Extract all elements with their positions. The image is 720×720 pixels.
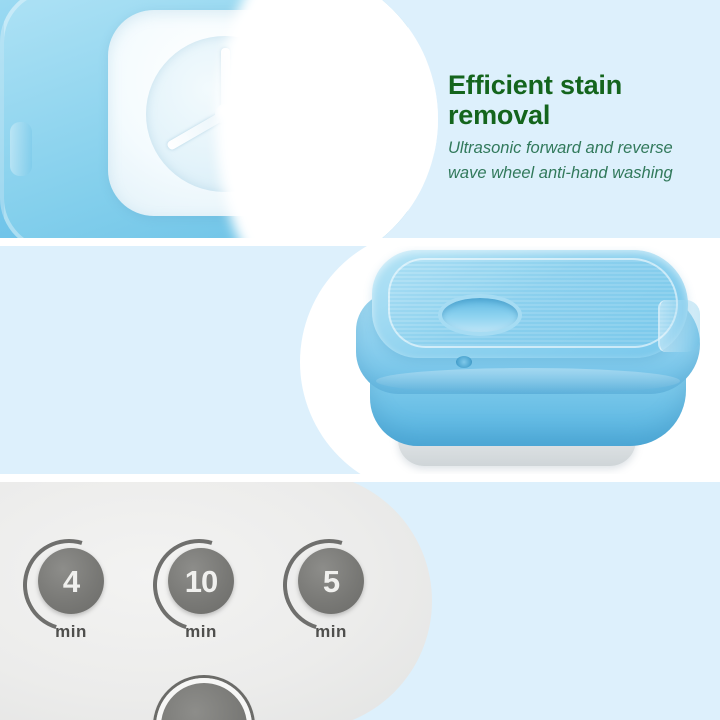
washer-top-view-photo bbox=[0, 0, 438, 238]
washer-side-clip bbox=[658, 300, 700, 352]
text-block-efficient-stain-removal: Efficient stain removal Ultrasonic forwa… bbox=[448, 70, 710, 185]
power-indicator-icon bbox=[456, 356, 472, 368]
bellows-fold-line bbox=[376, 368, 680, 394]
timer-value: 4 bbox=[63, 566, 79, 597]
timer-button-face[interactable]: 4 bbox=[38, 548, 104, 614]
body-efficient-stain-removal: Ultrasonic forward and reverse wave whee… bbox=[448, 136, 710, 185]
folded-washer-body bbox=[346, 248, 706, 474]
washer-side-nub bbox=[10, 122, 32, 176]
body-line: wave wheel anti-hand washing bbox=[448, 161, 710, 185]
timer-unit-label: min bbox=[168, 622, 234, 642]
folded-washer-photo bbox=[300, 246, 720, 474]
heading-efficient-stain-removal: Efficient stain removal bbox=[448, 70, 710, 130]
panel-timing: 4 min 10 min 5 min Timing bbox=[0, 482, 720, 720]
timer-value: 10 bbox=[185, 566, 217, 597]
washer-lid bbox=[372, 250, 688, 358]
timer-button-face[interactable]: 5 bbox=[298, 548, 364, 614]
photo-fade-mask bbox=[216, 0, 438, 238]
timer-unit-label: min bbox=[298, 622, 364, 642]
body-line: Ultrasonic forward and reverse bbox=[448, 136, 710, 160]
timer-button-face[interactable]: 10 bbox=[168, 548, 234, 614]
control-panel-photo: 4 min 10 min 5 min bbox=[0, 482, 432, 720]
panel-foldable: Foldable Travel, easy to put into the su… bbox=[0, 246, 720, 474]
washer-lid-texture bbox=[388, 258, 678, 348]
power-button[interactable] bbox=[156, 678, 252, 720]
timer-unit-label: min bbox=[38, 622, 104, 642]
panel-efficient-stain-removal: Efficient stain removal Ultrasonic forwa… bbox=[0, 0, 720, 238]
timer-value: 5 bbox=[323, 566, 339, 597]
product-infographic: Efficient stain removal Ultrasonic forwa… bbox=[0, 0, 720, 720]
lid-handle-hole bbox=[438, 294, 522, 336]
